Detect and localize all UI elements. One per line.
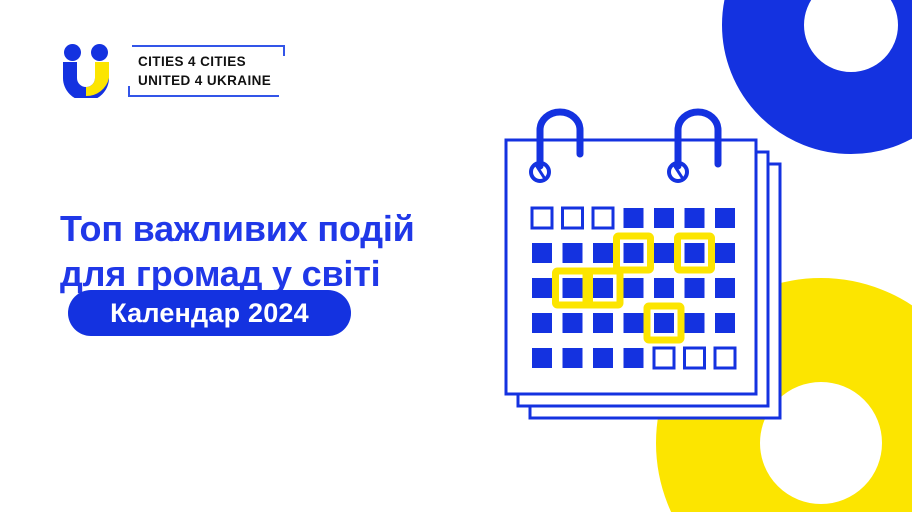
calendar-day-cell bbox=[563, 313, 583, 333]
calendar-illustration-svg bbox=[490, 104, 810, 434]
brand-logo[interactable]: CITIES 4 CITIES UNITED 4 UKRAINE bbox=[58, 44, 285, 98]
calendar-day-cell bbox=[563, 208, 583, 228]
calendar-day-cell bbox=[685, 243, 705, 263]
calendar-day-cell bbox=[715, 243, 735, 263]
calendar-day-cell bbox=[715, 208, 735, 228]
logo-line-1: CITIES 4 CITIES bbox=[138, 52, 271, 71]
calendar-day-cell bbox=[685, 313, 705, 333]
calendar-day-cell bbox=[654, 278, 674, 298]
calendar-day-cell bbox=[593, 208, 613, 228]
calendar-day-cell bbox=[654, 348, 674, 368]
calendar-day-cell bbox=[532, 278, 552, 298]
logo-wordmark: CITIES 4 CITIES UNITED 4 UKRAINE bbox=[128, 45, 285, 97]
calendar-day-cell bbox=[654, 208, 674, 228]
calendar-day-cell bbox=[593, 348, 613, 368]
calendar-year-badge[interactable]: Календар 2024 bbox=[68, 290, 351, 336]
calendar-day-cell bbox=[685, 278, 705, 298]
calendar-day-cell bbox=[593, 278, 613, 298]
calendar-day-cell bbox=[685, 348, 705, 368]
calendar-day-cell bbox=[593, 243, 613, 263]
calendar-day-cell bbox=[563, 243, 583, 263]
page-title-line-1: Топ важливих подій bbox=[60, 206, 480, 251]
calendar-day-cell bbox=[563, 348, 583, 368]
calendar-day-cell bbox=[624, 243, 644, 263]
calendar-day-cell bbox=[654, 243, 674, 263]
calendar-day-cell bbox=[593, 313, 613, 333]
cities4cities-u-mark-icon bbox=[58, 44, 114, 98]
calendar-day-cell bbox=[654, 313, 674, 333]
page-title: Топ важливих подій для громад у світі bbox=[60, 206, 480, 296]
calendar-day-cell bbox=[624, 348, 644, 368]
calendar-day-cell bbox=[624, 278, 644, 298]
poster-canvas: CITIES 4 CITIES UNITED 4 UKRAINE Топ важ… bbox=[0, 0, 912, 512]
calendar-illustration bbox=[490, 104, 810, 434]
calendar-day-cell bbox=[563, 278, 583, 298]
calendar-day-cell bbox=[624, 208, 644, 228]
calendar-day-cell bbox=[685, 208, 705, 228]
calendar-day-cell bbox=[532, 208, 552, 228]
calendar-day-cell bbox=[715, 278, 735, 298]
calendar-day-cell bbox=[532, 243, 552, 263]
calendar-day-cell bbox=[715, 348, 735, 368]
calendar-day-cell bbox=[532, 348, 552, 368]
calendar-day-cell bbox=[532, 313, 552, 333]
calendar-day-cell bbox=[624, 313, 644, 333]
logo-line-2: UNITED 4 UKRAINE bbox=[138, 71, 271, 90]
calendar-year-badge-label: Календар 2024 bbox=[110, 298, 309, 329]
calendar-day-cell bbox=[715, 313, 735, 333]
